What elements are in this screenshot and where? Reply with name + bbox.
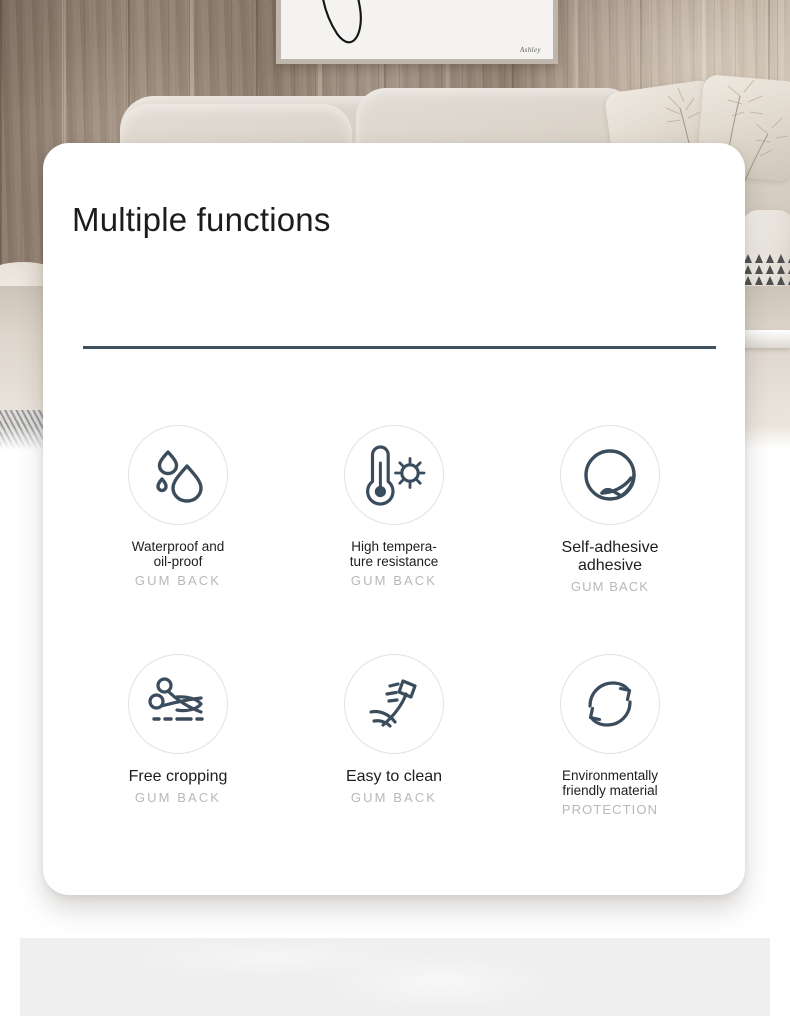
title-divider bbox=[83, 346, 716, 349]
feature-title: Self-adhesive adhesive bbox=[562, 539, 659, 575]
feature-subtitle: GUM BACK bbox=[571, 579, 649, 594]
feature-item[interactable]: Environmentally friendly material PROTEC… bbox=[502, 654, 718, 817]
feature-subtitle: PROTECTION bbox=[562, 802, 658, 817]
feature-title: High tempera- ture resistance bbox=[350, 539, 439, 569]
feature-title: Easy to clean bbox=[346, 768, 442, 786]
recycle-arrows-icon bbox=[560, 654, 660, 754]
bottom-panel-gradient bbox=[20, 938, 770, 1016]
cleaning-brush-icon bbox=[344, 654, 444, 754]
thermometer-sun-icon bbox=[344, 425, 444, 525]
feature-title: Waterproof and oil-proof bbox=[132, 539, 225, 569]
feature-subtitle: GUM BACK bbox=[351, 790, 437, 805]
abstract-line-art-icon bbox=[281, 0, 553, 64]
feature-item[interactable]: High tempera- ture resistance GUM BACK bbox=[286, 425, 502, 594]
feature-title: Environmentally friendly material bbox=[562, 768, 658, 798]
feature-title: Free cropping bbox=[129, 768, 228, 786]
feature-item[interactable]: Easy to clean GUM BACK bbox=[286, 654, 502, 817]
bottom-content-panel bbox=[20, 938, 770, 1016]
page-title: Multiple functions bbox=[72, 201, 331, 239]
feature-item[interactable]: Waterproof and oil-proof GUM BACK bbox=[70, 425, 286, 594]
feature-card: Multiple functions Waterproof and oil-pr… bbox=[43, 143, 745, 895]
framed-line-art: Ashley bbox=[276, 0, 558, 64]
feature-subtitle: GUM BACK bbox=[351, 573, 437, 588]
feature-grid: Waterproof and oil-proof GUM BACK High t… bbox=[70, 425, 718, 817]
feature-subtitle: GUM BACK bbox=[135, 573, 221, 588]
water-drops-icon bbox=[128, 425, 228, 525]
feature-subtitle: GUM BACK bbox=[135, 790, 221, 805]
scissors-cut-icon bbox=[128, 654, 228, 754]
feature-item[interactable]: Free cropping GUM BACK bbox=[70, 654, 286, 817]
feature-item[interactable]: Self-adhesive adhesive GUM BACK bbox=[502, 425, 718, 594]
self-adhesive-peel-icon bbox=[560, 425, 660, 525]
artwork-signature: Ashley bbox=[520, 46, 541, 54]
